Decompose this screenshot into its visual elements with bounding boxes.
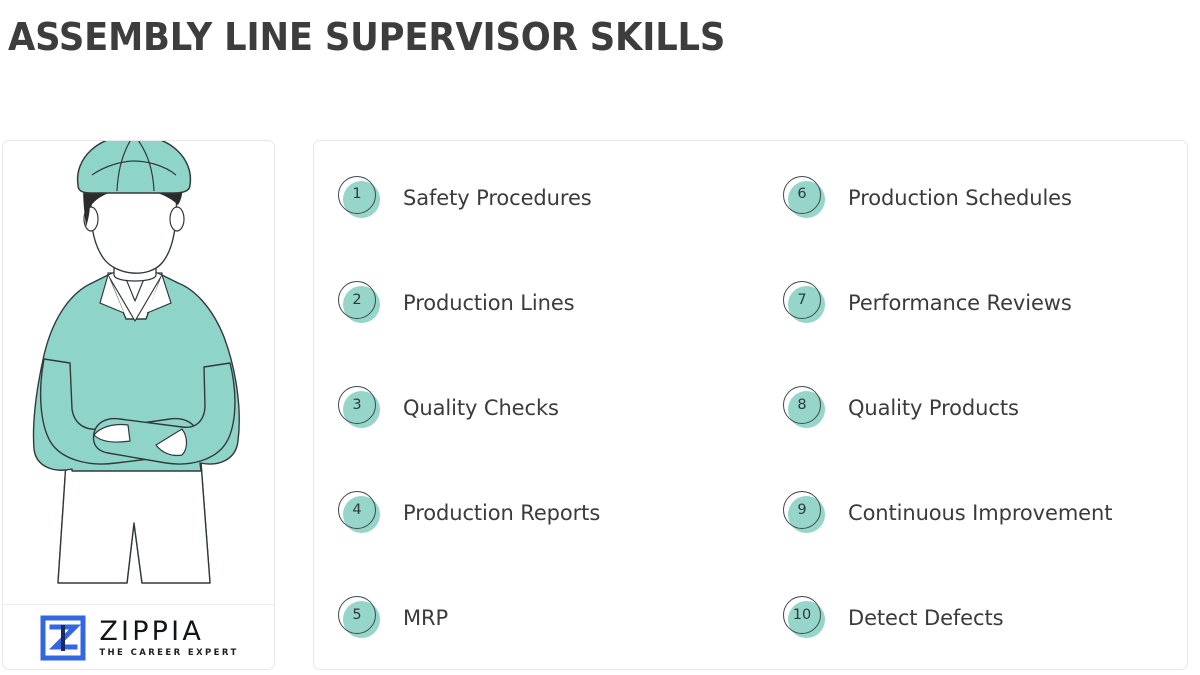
skill-item-2[interactable]: 2 Production Lines — [314, 280, 766, 326]
skill-label: Quality Checks — [403, 396, 559, 420]
skills-list: 1 Safety Procedures 6 Production Schedul… — [314, 141, 1189, 671]
number-badge-icon: 7 — [782, 280, 828, 326]
skills-card: 1 Safety Procedures 6 Production Schedul… — [313, 140, 1188, 670]
skill-number: 1 — [338, 176, 376, 214]
skill-label: MRP — [403, 606, 448, 630]
illustration-card: ZIPPIA THE CAREER EXPERT — [2, 140, 275, 670]
skill-number: 6 — [783, 176, 821, 214]
number-badge-icon: 5 — [337, 595, 383, 641]
skill-label: Performance Reviews — [848, 291, 1072, 315]
zippia-logo[interactable]: ZIPPIA THE CAREER EXPERT — [3, 605, 275, 670]
skill-number: 3 — [338, 386, 376, 424]
skill-item-7[interactable]: 7 Performance Reviews — [766, 280, 1189, 326]
skill-number: 5 — [338, 596, 376, 634]
skill-label: Quality Products — [848, 396, 1019, 420]
worker-illustration — [3, 141, 275, 605]
number-badge-icon: 8 — [782, 385, 828, 431]
skill-label: Safety Procedures — [403, 186, 592, 210]
skill-item-6[interactable]: 6 Production Schedules — [766, 175, 1189, 221]
skill-item-5[interactable]: 5 MRP — [314, 595, 766, 641]
skill-number: 10 — [783, 596, 821, 634]
skill-label: Production Lines — [403, 291, 575, 315]
skill-number: 2 — [338, 281, 376, 319]
skill-number: 9 — [783, 491, 821, 529]
number-badge-icon: 4 — [337, 490, 383, 536]
skill-label: Detect Defects — [848, 606, 1003, 630]
skill-item-4[interactable]: 4 Production Reports — [314, 490, 766, 536]
number-badge-icon: 3 — [337, 385, 383, 431]
skill-item-8[interactable]: 8 Quality Products — [766, 385, 1189, 431]
page-title: ASSEMBLY LINE SUPERVISOR SKILLS — [8, 14, 725, 60]
number-badge-icon: 9 — [782, 490, 828, 536]
skill-number: 4 — [338, 491, 376, 529]
zippia-wordmark: ZIPPIA — [99, 617, 204, 646]
skill-label: Production Reports — [403, 501, 600, 525]
number-badge-icon: 6 — [782, 175, 828, 221]
number-badge-icon: 2 — [337, 280, 383, 326]
zippia-logo-mark — [40, 615, 86, 661]
skill-number: 7 — [783, 281, 821, 319]
skill-label: Continuous Improvement — [848, 501, 1112, 525]
zippia-tagline: THE CAREER EXPERT — [99, 647, 238, 659]
skill-item-3[interactable]: 3 Quality Checks — [314, 385, 766, 431]
skill-number: 8 — [783, 386, 821, 424]
number-badge-icon: 1 — [337, 175, 383, 221]
skill-label: Production Schedules — [848, 186, 1072, 210]
skill-item-1[interactable]: 1 Safety Procedures — [314, 175, 766, 221]
number-badge-icon: 10 — [782, 595, 828, 641]
skill-item-9[interactable]: 9 Continuous Improvement — [766, 490, 1189, 536]
skill-item-10[interactable]: 10 Detect Defects — [766, 595, 1189, 641]
